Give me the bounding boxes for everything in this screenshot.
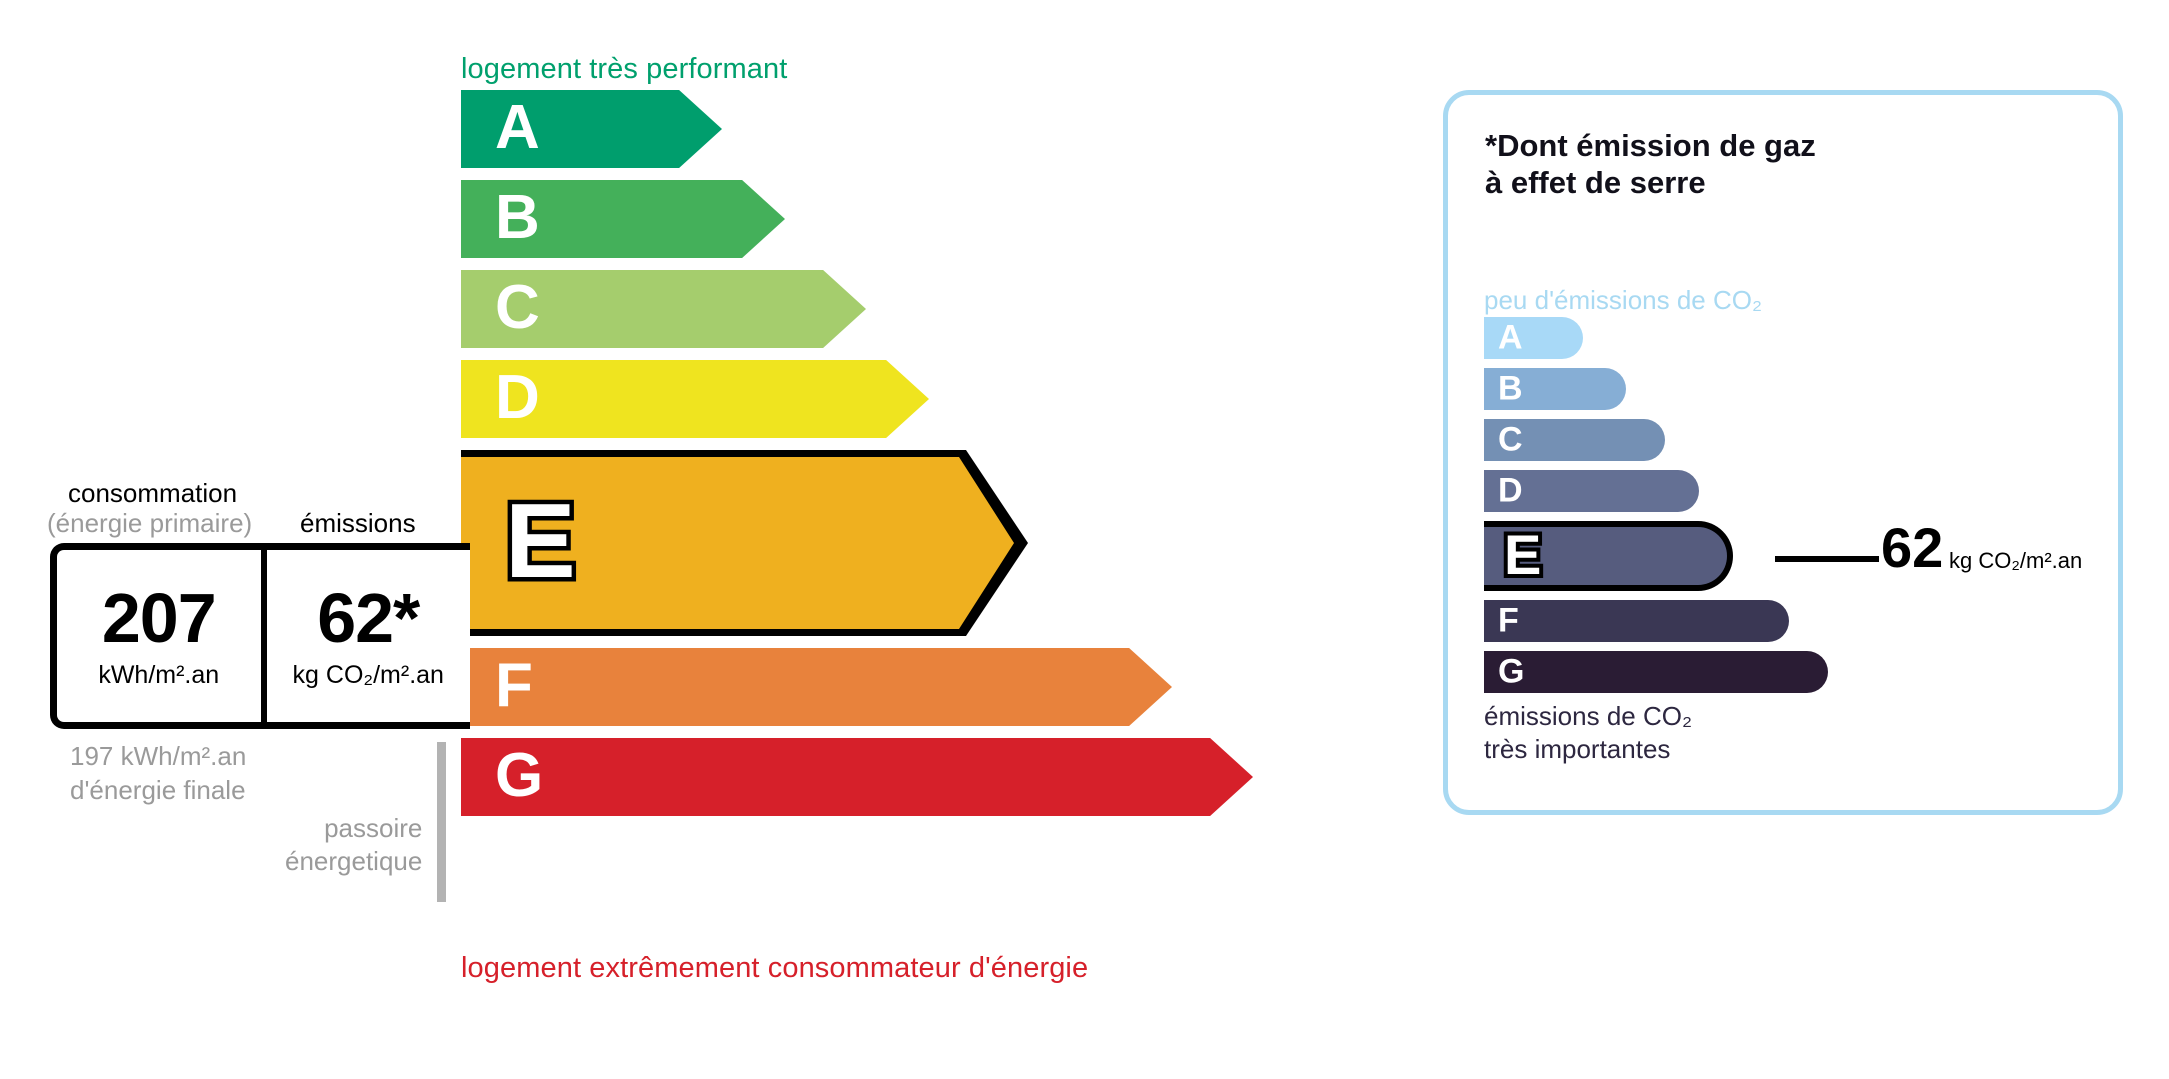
- energy-grade-letter-c: C: [495, 277, 540, 339]
- co2-bar-b: B: [1484, 368, 1626, 410]
- text-line: 197 kWh/m².an: [70, 740, 246, 774]
- emissions-unit: kg CO₂/m².an: [293, 661, 444, 690]
- energy-grade-letter-f: F: [495, 655, 533, 717]
- co2-top-caption: peu d'émissions de CO₂: [1484, 285, 1762, 316]
- co2-panel-title: *Dont émission de gazà effet de serre: [1485, 127, 1816, 201]
- co2-grade-letter-e: E: [1504, 527, 1541, 583]
- consumption-unit: kWh/m².an: [98, 661, 219, 690]
- co2-bar-c: C: [1484, 419, 1665, 461]
- co2-grade-letter-a: A: [1498, 320, 1523, 354]
- co2-bar-g: G: [1484, 651, 1828, 693]
- co2-bar-e: E: [1484, 521, 1733, 591]
- co2-bar-d: D: [1484, 470, 1699, 512]
- consumption-cell: 207 kWh/m².an: [57, 550, 267, 722]
- co2-bar-f: F: [1484, 600, 1789, 642]
- energy-arrow-b: B: [461, 180, 785, 258]
- consumption-value: 207: [102, 583, 216, 653]
- co2-bar-a: A: [1484, 317, 1583, 359]
- label-energie-primaire: (énergie primaire): [47, 508, 252, 539]
- co2-grade-letter-f: F: [1498, 603, 1519, 637]
- co2-grade-letter-g: G: [1498, 654, 1524, 688]
- co2-grade-letter-b: B: [1498, 371, 1523, 405]
- dpe-diagram: logement très performant ABCDEFG logemen…: [0, 0, 2169, 1079]
- co2-grade-letter-c: C: [1498, 422, 1523, 456]
- energy-grade-letter-e: E: [505, 488, 576, 594]
- energy-bottom-caption: logement extrêmement consommateur d'éner…: [461, 952, 1088, 985]
- co2-bottom-caption: émissions de CO₂très importantes: [1484, 700, 1692, 765]
- energy-grade-letter-g: G: [495, 745, 543, 807]
- final-energy-note: 197 kWh/m².and'énergie finale: [70, 740, 246, 808]
- value-box: 207 kWh/m².an 62* kg CO₂/m².an: [50, 543, 470, 729]
- energy-grade-letter-a: A: [495, 97, 540, 159]
- text-line: énergetique: [285, 845, 422, 878]
- emissions-cell: 62* kg CO₂/m².an: [267, 550, 471, 722]
- text-line: très importantes: [1484, 733, 1692, 766]
- energy-arrow-d: D: [461, 360, 929, 438]
- energy-arrow-e: E: [461, 457, 1014, 629]
- co2-panel: *Dont émission de gazà effet de serre pe…: [1443, 90, 2123, 815]
- passoire-marker-bar: [437, 742, 446, 902]
- co2-callout-unit: kg CO₂/m².an: [1949, 548, 2082, 574]
- text-line: à effet de serre: [1485, 164, 1816, 201]
- label-emissions: émissions: [300, 508, 416, 539]
- co2-callout-leader-line: [1775, 556, 1879, 562]
- energy-grade-letter-d: D: [495, 367, 540, 429]
- text-line: *Dont émission de gaz: [1485, 127, 1816, 164]
- co2-callout-value: 62: [1881, 520, 1943, 576]
- label-consommation: consommation: [68, 478, 237, 509]
- text-line: émissions de CO₂: [1484, 700, 1692, 733]
- passoire-label: passoireénergetique: [285, 812, 422, 877]
- text-line: d'énergie finale: [70, 774, 246, 808]
- energy-arrow-c: C: [461, 270, 866, 348]
- energy-top-caption: logement très performant: [461, 53, 787, 86]
- emissions-value: 62*: [317, 583, 419, 653]
- energy-arrow-f: F: [461, 648, 1172, 726]
- energy-arrow-a: A: [461, 90, 722, 168]
- co2-grade-letter-d: D: [1498, 473, 1523, 507]
- text-line: passoire: [285, 812, 422, 845]
- energy-scale-panel: logement très performant ABCDEFG logemen…: [0, 0, 1400, 1079]
- energy-grade-letter-b: B: [495, 187, 540, 249]
- energy-arrow-g: G: [461, 738, 1253, 816]
